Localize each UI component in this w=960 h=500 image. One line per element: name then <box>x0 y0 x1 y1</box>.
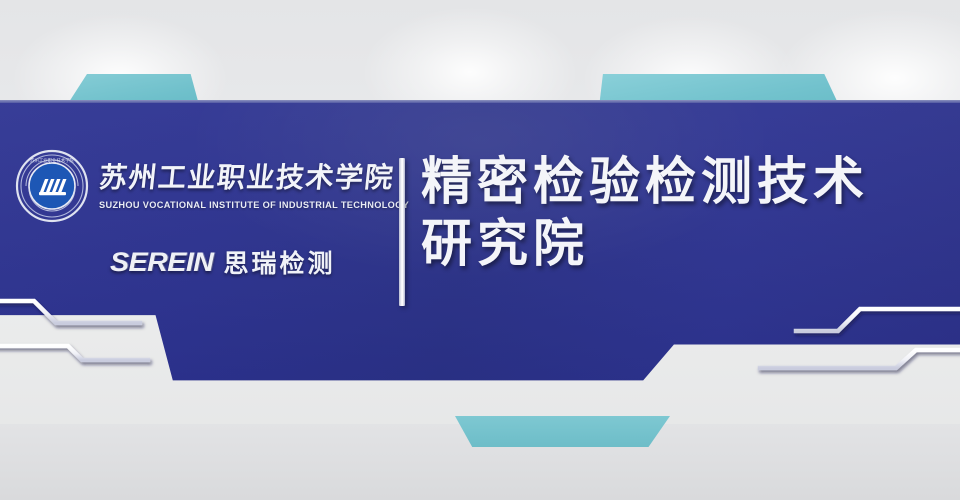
svg-text:苏州工业职业技术学院: 苏州工业职业技术学院 <box>30 157 75 164</box>
suzhou-institute-crest-icon: 苏州工业职业技术学院 <box>14 148 90 224</box>
vertical-divider <box>399 158 405 306</box>
signage-scene: 苏州工业职业技术学院 苏州工业职业技术学院 SUZHOU VOCATIONAL … <box>0 0 960 500</box>
university-identity: 苏州工业职业技术学院 苏州工业职业技术学院 SUZHOU VOCATIONAL … <box>14 148 394 224</box>
panel-content: 苏州工业职业技术学院 苏州工业职业技术学院 SUZHOU VOCATIONAL … <box>0 100 960 426</box>
university-name-cn: 苏州工业职业技术学院 <box>97 164 410 194</box>
university-text: 苏州工业职业技术学院 SUZHOU VOCATIONAL INSTITUTE O… <box>99 162 409 209</box>
brand-block: 苏州工业职业技术学院 苏州工业职业技术学院 SUZHOU VOCATIONAL … <box>14 148 394 280</box>
university-name-en: SUZHOU VOCATIONAL INSTITUTE OF INDUSTRIA… <box>99 200 409 210</box>
headline-line-1: 精密检验检测技术 <box>421 152 951 214</box>
company-identity: SEREIN 思瑞检测 <box>14 244 394 280</box>
headline-line-2: 研究院 <box>421 214 951 276</box>
institute-headline: 精密检验检测技术 研究院 <box>421 152 951 276</box>
company-brand-cn: 思瑞检测 <box>224 244 336 280</box>
company-brand-en: SEREIN <box>110 247 213 278</box>
